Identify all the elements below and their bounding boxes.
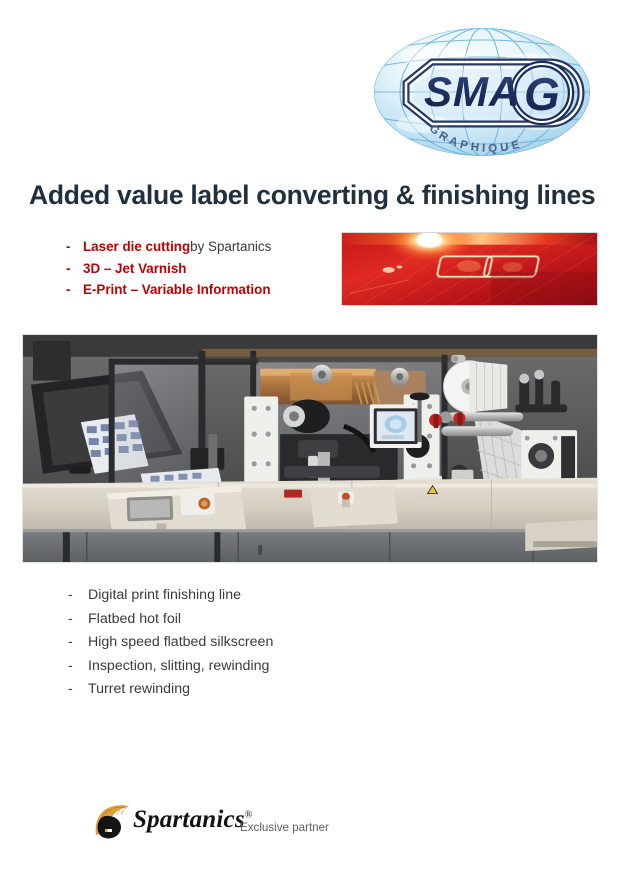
smag-letter-g: G: [524, 68, 560, 120]
laser-photo-svg: [342, 233, 597, 305]
list-item-label: Inspection, slitting, rewinding: [88, 655, 269, 679]
list-item: - Flatbed hot foil: [68, 608, 398, 632]
bullet-dash-icon: -: [68, 678, 88, 702]
list-item-label: Digital print finishing line: [88, 584, 241, 608]
machine-photo-svg: [23, 335, 597, 562]
bullet-dash-icon: -: [68, 584, 88, 608]
spartanics-wordmark: Spartanics®: [133, 806, 253, 834]
finishing-line-machine-photo: [22, 334, 598, 563]
bullet-dash-icon: -: [66, 258, 83, 280]
list-item-label: Laser die cutting: [83, 236, 190, 258]
bullet-dash-icon: -: [68, 631, 88, 655]
bullet-dash-icon: -: [66, 236, 83, 258]
list-item: - Digital print finishing line: [68, 584, 398, 608]
bullet-dash-icon: -: [66, 279, 83, 301]
list-item-label: Flatbed hot foil: [88, 608, 181, 632]
highlight-feature-list: - Laser die cutting by Spartanics - 3D –…: [66, 236, 338, 301]
list-item: - Inspection, slitting, rewinding: [68, 655, 398, 679]
spartan-helmet-icon: [88, 801, 130, 841]
laser-die-cutting-photo: [341, 232, 598, 306]
footer: Spartanics® Exclusive partner: [88, 798, 388, 848]
list-item: - Turret rewinding: [68, 678, 398, 702]
capability-feature-list: - Digital print finishing line - Flatbed…: [68, 584, 398, 702]
list-item: - Laser die cutting by Spartanics: [66, 236, 338, 258]
smag-logo-svg: SMA G GRAPHIQUE: [372, 26, 592, 158]
spartan-helmet-svg: [88, 801, 130, 841]
list-item-label: High speed flatbed silkscreen: [88, 631, 273, 655]
smag-logo: SMA G GRAPHIQUE: [372, 26, 592, 158]
list-item: - High speed flatbed silkscreen: [68, 631, 398, 655]
registered-trademark-icon: ®: [245, 810, 253, 821]
list-item: - E-Print – Variable Information: [66, 279, 338, 301]
list-item-label: 3D – Jet Varnish: [83, 258, 186, 280]
list-item-suffix: by Spartanics: [190, 236, 271, 258]
spartanics-brand-text: Spartanics: [133, 806, 245, 833]
page-title: Added value label converting & finishing…: [29, 180, 604, 210]
list-item-label: Turret rewinding: [88, 678, 190, 702]
bullet-dash-icon: -: [68, 608, 88, 632]
list-item-label: E-Print – Variable Information: [83, 279, 271, 301]
exclusive-partner-label: Exclusive partner: [240, 821, 329, 834]
bullet-dash-icon: -: [68, 655, 88, 679]
list-item: - 3D – Jet Varnish: [66, 258, 338, 280]
smag-letters: SMA: [424, 68, 520, 115]
